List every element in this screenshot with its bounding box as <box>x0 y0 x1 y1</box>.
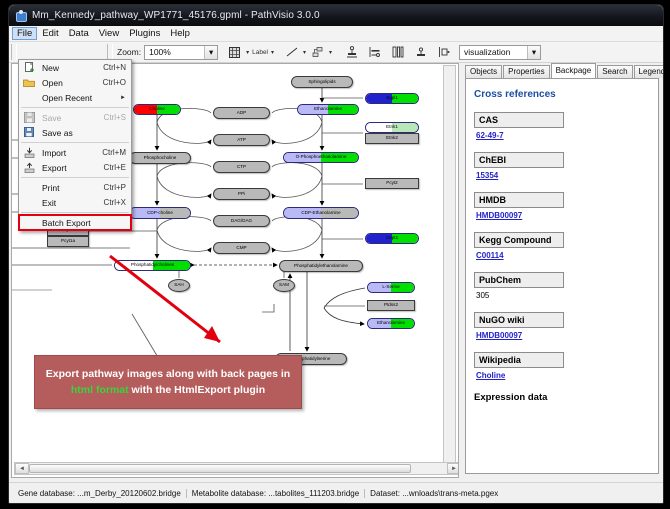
gene-label: Cept1 <box>386 236 398 241</box>
metabolite-node[interactable]: PPi <box>213 188 270 200</box>
cross-references-heading: Cross references <box>474 89 650 100</box>
metabolite-label: O-Phosphoethanolamine <box>296 155 347 160</box>
menu-plugins[interactable]: Plugins <box>124 27 165 40</box>
tab-backpage[interactable]: Backpage <box>551 63 597 78</box>
submenu-chevron-right-icon: ► <box>120 95 131 101</box>
gene-label: Pcyt1a <box>61 239 75 244</box>
metabolite-node[interactable]: Phosphatidylethanolamine <box>279 260 363 272</box>
file-menu-item-accelerator: Ctrl+E <box>104 163 131 172</box>
gene-node[interactable]: Ptdss2 <box>367 300 415 311</box>
new-document-icon <box>20 61 38 75</box>
menu-item-no-icon <box>20 216 38 230</box>
metabolite-label: Sphingolipids <box>308 80 335 85</box>
callout-annotation: Export pathway images along with back pa… <box>34 355 302 409</box>
metabolite-node[interactable]: Ethanolamine <box>297 104 359 115</box>
file-menu-item-label: Open <box>38 78 103 88</box>
metabolite-node[interactable]: SAM <box>273 279 295 292</box>
zoom-value: 100% <box>149 47 204 57</box>
xref-value: 305 <box>476 291 650 300</box>
label-tool-button[interactable]: Label <box>252 49 268 56</box>
toolbar-grip[interactable] <box>11 44 17 60</box>
interaction-tool-button[interactable] <box>310 45 325 60</box>
import-icon <box>20 146 38 160</box>
xref-db-header: CAS <box>474 112 564 128</box>
gene-node[interactable]: Etnk2 <box>365 133 419 144</box>
file-menu-item-open[interactable]: OpenCtrl+O <box>19 75 131 90</box>
canvas-horizontal-scrollbar[interactable]: ◄ ► <box>14 462 459 475</box>
metabolite-node[interactable]: Phosphocholine <box>129 152 191 164</box>
grid-toggle-button[interactable] <box>227 45 242 60</box>
xref-link[interactable]: HMDB00097 <box>476 211 650 220</box>
file-menu-item-label: Exit <box>38 198 104 208</box>
status-gene-database: Gene database: ...m_Derby_20120602.bridg… <box>13 489 186 498</box>
metabolite-node[interactable]: CTP <box>213 161 270 173</box>
metabolite-label: CMP <box>236 246 246 251</box>
metabolite-node[interactable]: ADP <box>213 107 270 119</box>
backpage-panel[interactable]: Cross references CAS62-49-7ChEBI15354HMD… <box>465 78 659 474</box>
status-dataset: Dataset: ...wnloads\trans-meta.pgex <box>364 489 503 498</box>
scroll-left-arrow-icon[interactable]: ◄ <box>15 463 29 474</box>
metabolite-node[interactable]: SAH <box>168 279 190 292</box>
pathvisio-window: Mm_Kennedy_pathway_WP1771_45176.gpml - P… <box>8 4 664 504</box>
menu-separator <box>21 107 129 108</box>
xref-db-header: ChEBI <box>474 152 564 168</box>
file-menu-item-label: Open Recent <box>38 93 120 103</box>
metabolite-node[interactable]: CDP-choline <box>129 207 191 219</box>
gene-label: Etnk2 <box>386 136 398 141</box>
file-menu-dropdown[interactable]: NewCtrl+NOpenCtrl+OOpen Recent►SaveCtrl+… <box>18 59 132 231</box>
metabolite-node[interactable]: ATP <box>213 134 270 146</box>
menu-view[interactable]: View <box>94 27 124 40</box>
save-disk-icon <box>20 111 38 125</box>
cross-reference-list: CAS62-49-7ChEBI15354HMDBHMDB00097Kegg Co… <box>474 112 650 380</box>
file-menu-item-accelerator: Ctrl+P <box>104 183 131 192</box>
menu-item-no-icon <box>20 91 38 105</box>
stack-center-button[interactable] <box>390 45 405 60</box>
pathvisio-app-icon <box>15 10 27 22</box>
zoom-label: Zoom: <box>117 47 141 57</box>
screenshot-frame: Mm_Kennedy_pathway_WP1771_45176.gpml - P… <box>0 0 670 509</box>
metabolite-label: Choline <box>149 107 165 112</box>
visualization-chevron-down-icon[interactable]: ▾ <box>527 46 540 59</box>
metabolite-label: SAH <box>174 283 183 288</box>
metabolite-label: Ethanolamine <box>314 107 342 112</box>
file-menu-item-label: Export <box>38 163 104 173</box>
xref-link[interactable]: 62-49-7 <box>476 131 650 140</box>
file-menu-item-label: Save as <box>38 128 126 138</box>
file-menu-item-accelerator: Ctrl+M <box>102 148 131 157</box>
gene-label: Etnk1 <box>386 125 398 130</box>
line-tool-button[interactable] <box>284 45 299 60</box>
visualization-value: visualization <box>464 47 527 57</box>
menu-file[interactable]: File <box>12 27 37 40</box>
metabolite-node[interactable]: Choline <box>133 104 181 115</box>
interaction-options-chevron-icon[interactable]: ▾ <box>326 45 335 60</box>
canvas-hscroll-thumb[interactable] <box>29 464 411 473</box>
file-menu-item-print[interactable]: PrintCtrl+P <box>19 180 131 195</box>
gene-node[interactable]: Pcyt1a <box>47 236 89 247</box>
xref-db-header: HMDB <box>474 192 564 208</box>
xref-link[interactable]: Choline <box>476 371 650 380</box>
chevron-down-icon[interactable]: ▾ <box>204 46 217 59</box>
toolbar-grip-2[interactable] <box>107 44 113 60</box>
gene-node[interactable]: Cept1 <box>365 233 419 244</box>
gene-label: Sgpl1 <box>386 96 398 101</box>
file-menu-item-save[interactable]: SaveCtrl+S <box>19 110 131 125</box>
callout-text-after: with the HtmlExport plugin <box>129 384 266 396</box>
file-menu-item-exit[interactable]: ExitCtrl+X <box>19 195 131 210</box>
xref-db-header: NuGO wiki <box>474 312 564 328</box>
gene-node[interactable]: Sgpl1 <box>365 93 419 104</box>
metabolite-label: Ethanolamine <box>377 321 405 326</box>
tab-objects[interactable]: Objects <box>465 65 502 78</box>
canvas-vertical-scrollbar[interactable] <box>443 65 456 467</box>
file-menu-item-label: Print <box>38 183 104 193</box>
gene-label: Ptdss2 <box>384 303 398 308</box>
file-menu-item-save-as[interactable]: Save as <box>19 125 131 140</box>
zoom-combobox[interactable]: 100% ▾ <box>144 45 218 60</box>
menu-bar[interactable]: File Edit Data View Plugins Help <box>9 26 663 42</box>
visualization-combobox[interactable]: visualization ▾ <box>459 45 541 60</box>
xref-db-header: Kegg Compound <box>474 232 564 248</box>
file-menu-item-import[interactable]: ImportCtrl+M <box>19 145 131 160</box>
metabolite-node[interactable]: O-Phosphoethanolamine <box>283 152 359 163</box>
status-bar: Gene database: ...m_Derby_20120602.bridg… <box>9 482 664 503</box>
file-menu-item-accelerator: Ctrl+N <box>103 63 131 72</box>
metabolite-label: Phosphatidylethanolamine <box>294 264 348 269</box>
xref-db-header: PubChem <box>474 272 564 288</box>
metabolite-label: CTP <box>237 165 246 170</box>
menu-data[interactable]: Data <box>64 27 94 40</box>
gene-node[interactable]: Etnk1 <box>365 122 419 133</box>
align-top-button[interactable] <box>344 45 359 60</box>
xref-link[interactable]: C00114 <box>476 251 650 260</box>
label-options-chevron-icon[interactable]: ▾ <box>268 45 277 60</box>
xref-db-header: Wikipedia <box>474 352 564 368</box>
callout-highlight: html format <box>71 384 129 396</box>
menu-help[interactable]: Help <box>165 27 195 40</box>
window-title: Mm_Kennedy_pathway_WP1771_45176.gpml - P… <box>32 10 320 21</box>
tab-properties[interactable]: Properties <box>503 65 549 78</box>
title-bar: Mm_Kennedy_pathway_WP1771_45176.gpml - P… <box>9 5 663 26</box>
metabolite-node[interactable]: CDP-Ethanolamine <box>283 207 359 219</box>
file-menu-item-open-recent[interactable]: Open Recent► <box>19 90 131 105</box>
tab-legend[interactable]: Legend <box>634 65 664 78</box>
metabolite-label: CDP-Ethanolamine <box>301 211 340 216</box>
metabolite-node[interactable]: CMP <box>213 242 270 254</box>
tab-search[interactable]: Search <box>597 65 632 78</box>
menu-edit[interactable]: Edit <box>37 27 63 40</box>
metabolite-label: L-Serine <box>382 285 399 290</box>
menu-separator <box>21 177 129 178</box>
file-menu-item-label: New <box>38 63 103 73</box>
metabolite-label: CDP-choline <box>147 211 173 216</box>
metabolite-node[interactable]: Ethanolamine <box>367 318 415 329</box>
menu-item-no-icon <box>20 196 38 210</box>
metabolite-label: ATP <box>237 138 246 143</box>
callout-text-before: Export pathway images along with back pa… <box>46 368 290 380</box>
gene-node[interactable]: Pcyt2 <box>365 178 419 189</box>
xref-link[interactable]: 15354 <box>476 171 650 180</box>
metabolite-node[interactable]: L-Serine <box>367 282 415 293</box>
distribute-button[interactable] <box>413 45 428 60</box>
metabolite-label: PPi <box>238 192 245 197</box>
file-menu-item-accelerator: Ctrl+O <box>103 78 131 87</box>
metabolite-node[interactable]: Phosphatidylcholines <box>114 260 191 271</box>
align-left-button[interactable] <box>367 45 382 60</box>
scroll-right-arrow-icon[interactable]: ► <box>447 463 459 474</box>
status-metabolite-database: Metabolite database: ...tabolites_111203… <box>186 489 364 498</box>
metabolite-node[interactable]: Sphingolipids <box>291 76 353 88</box>
open-folder-icon <box>20 76 38 90</box>
metabolite-label: SAM <box>279 283 289 288</box>
metabolite-label: ADP <box>237 111 246 116</box>
side-panel-tabs[interactable]: Objects Properties Backpage Search Legen… <box>461 63 661 78</box>
file-menu-item-new[interactable]: NewCtrl+N <box>19 60 131 75</box>
metabolite-label: Phosphatidylcholines <box>131 263 174 268</box>
gene-label: Pcyt2 <box>386 181 398 186</box>
metabolite-label: DAG/DAG <box>231 219 252 224</box>
file-menu-item-accelerator: Ctrl+S <box>104 113 131 122</box>
menu-item-no-icon <box>20 181 38 195</box>
grid-options-chevron-icon[interactable]: ▾ <box>243 45 252 60</box>
file-menu-item-batch-export[interactable]: Batch Export <box>19 215 131 230</box>
metabolite-label: Phosphocholine <box>144 156 177 161</box>
side-panel: Objects Properties Backpage Search Legen… <box>461 63 661 476</box>
menu-separator <box>21 142 129 143</box>
menu-separator <box>21 212 129 213</box>
common-width-button[interactable] <box>436 45 451 60</box>
file-menu-item-export[interactable]: ExportCtrl+E <box>19 160 131 175</box>
xref-link[interactable]: HMDB00097 <box>476 331 650 340</box>
file-menu-item-label: Save <box>38 113 104 123</box>
save-as-icon <box>20 126 38 140</box>
expression-data-heading: Expression data <box>474 392 650 403</box>
export-icon <box>20 161 38 175</box>
file-menu-item-accelerator: Ctrl+X <box>104 198 131 207</box>
file-menu-item-label: Import <box>38 148 102 158</box>
line-options-chevron-icon[interactable]: ▾ <box>300 45 309 60</box>
metabolite-node[interactable]: DAG/DAG <box>213 215 270 227</box>
file-menu-item-label: Batch Export <box>38 218 126 228</box>
